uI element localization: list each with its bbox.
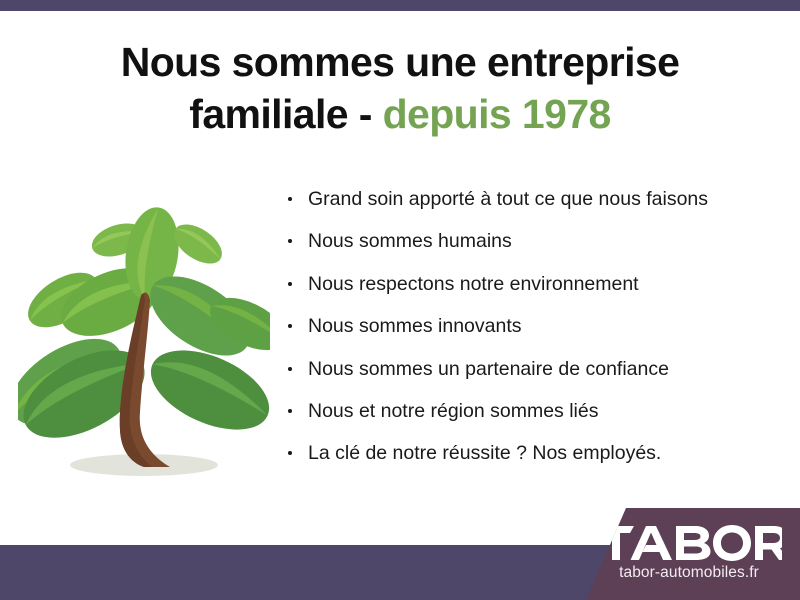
tabor-wordmark-icon — [596, 522, 782, 562]
top-accent-bar — [0, 0, 800, 11]
headline-line-2-plain: familiale - — [189, 91, 382, 137]
list-item: Nous et notre région sommes liés — [286, 400, 786, 423]
benefits-list: Grand soin apporté à tout ce que nous fa… — [286, 188, 786, 485]
list-item: Nous sommes un partenaire de confiance — [286, 358, 786, 381]
list-item: La clé de notre réussite ? Nos employés. — [286, 442, 786, 465]
list-item: Nous sommes innovants — [286, 315, 786, 338]
list-item-label: Grand soin apporté à tout ce que nous fa… — [308, 188, 708, 210]
logo-tagline[interactable]: tabor-automobiles.fr — [596, 564, 782, 582]
list-item-label: Nous sommes innovants — [308, 315, 522, 337]
list-item: Grand soin apporté à tout ce que nous fa… — [286, 188, 786, 211]
list-item: Nous respectons notre environnement — [286, 273, 786, 296]
headline-line-2: familiale - depuis 1978 — [0, 88, 800, 140]
bullet-dot-icon — [288, 367, 292, 371]
bullet-dot-icon — [288, 282, 292, 286]
headline-line-1: Nous sommes une entreprise — [0, 36, 800, 88]
list-item-label: Nous respectons notre environnement — [308, 273, 639, 295]
list-item: Nous sommes humains — [286, 230, 786, 253]
bullet-dot-icon — [288, 451, 292, 455]
tree-illustration — [18, 182, 270, 482]
bullet-dot-icon — [288, 239, 292, 243]
slide-canvas: Nous sommes une entreprise familiale - d… — [0, 0, 800, 600]
bullet-dot-icon — [288, 324, 292, 328]
list-item-label: Nous sommes humains — [308, 230, 512, 252]
bullet-dot-icon — [288, 409, 292, 413]
list-item-label: Nous et notre région sommes liés — [308, 400, 598, 422]
logo-content: tabor-automobiles.fr — [596, 522, 782, 582]
page-title: Nous sommes une entreprise familiale - d… — [0, 36, 800, 141]
bullet-dot-icon — [288, 197, 292, 201]
headline-accent-text: depuis 1978 — [383, 91, 611, 137]
list-item-label: La clé de notre réussite ? Nos employés. — [308, 442, 661, 464]
list-item-label: Nous sommes un partenaire de confiance — [308, 358, 669, 380]
tree-icon — [18, 182, 270, 482]
